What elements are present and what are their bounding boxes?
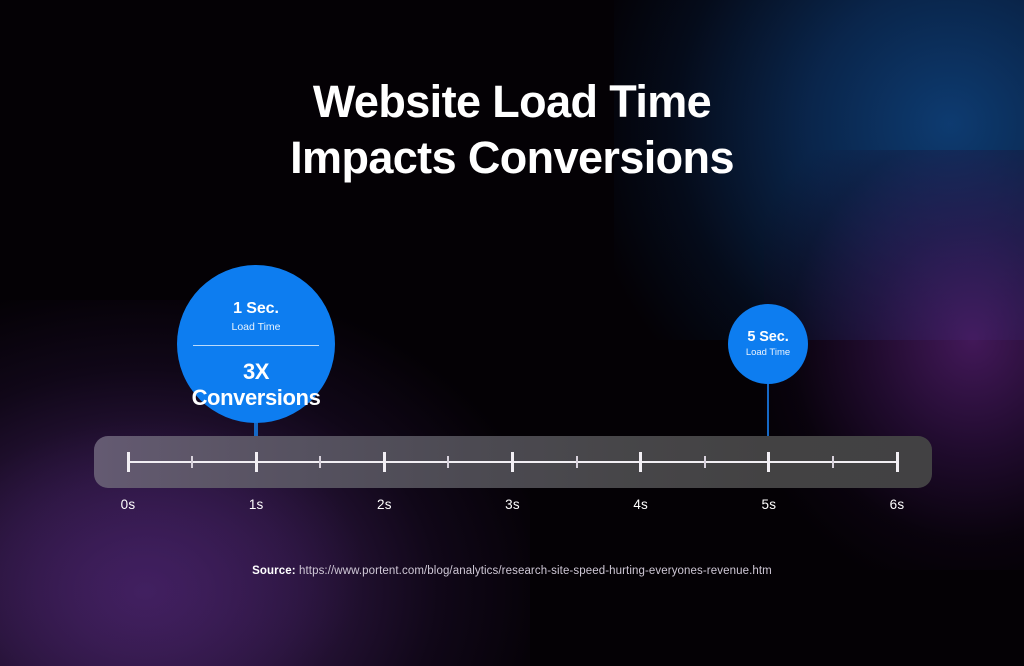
- axis-label-6s: 6s: [867, 497, 927, 512]
- marker-1s-stat-line1: 3X: [243, 359, 269, 384]
- page-title: Website Load Time Impacts Conversions: [0, 74, 1024, 186]
- axis-label-2s: 2s: [354, 497, 414, 512]
- axis-tick-major-3s: [511, 452, 514, 472]
- source-url[interactable]: https://www.portent.com/blog/analytics/r…: [299, 565, 772, 577]
- axis-tick-minor-1.5s: [319, 456, 321, 468]
- axis-tick-major-2s: [383, 452, 386, 472]
- title-line-1: Website Load Time: [0, 74, 1024, 130]
- axis-tick-minor-3.5s: [576, 456, 578, 468]
- marker-1s-subtitle: Load Time: [231, 321, 280, 334]
- marker-1s-stat-line2: Conversions: [192, 385, 321, 410]
- infographic-canvas: Website Load Time Impacts Conversions 0s…: [0, 0, 1024, 666]
- axis-tick-major-5s: [767, 452, 770, 472]
- marker-1s-divider: [193, 345, 319, 346]
- source-label: Source:: [252, 565, 296, 577]
- axis-tick-minor-0.5s: [191, 456, 193, 468]
- axis-label-0s: 0s: [98, 497, 158, 512]
- axis-label-1s: 1s: [226, 497, 286, 512]
- axis-tick-major-0s: [127, 452, 130, 472]
- title-line-2: Impacts Conversions: [0, 130, 1024, 186]
- axis-tick-minor-4.5s: [704, 456, 706, 468]
- axis-tick-major-6s: [896, 452, 899, 472]
- axis-tick-minor-5.5s: [832, 456, 834, 468]
- marker-5s-headline: 5 Sec.: [747, 329, 788, 345]
- marker-1s-headline: 1 Sec.: [233, 300, 279, 318]
- marker-1s-stat: 3X Conversions: [192, 359, 321, 410]
- axis-label-4s: 4s: [611, 497, 671, 512]
- source-line: Source: https://www.portent.com/blog/ana…: [0, 565, 1024, 577]
- axis-tick-major-1s: [255, 452, 258, 472]
- axis-label-5s: 5s: [739, 497, 799, 512]
- marker-bubble-5s[interactable]: 5 Sec. Load Time: [728, 304, 808, 384]
- marker-5s-subtitle: Load Time: [746, 347, 790, 358]
- axis-tick-minor-2.5s: [447, 456, 449, 468]
- axis-label-3s: 3s: [483, 497, 543, 512]
- axis-tick-major-4s: [639, 452, 642, 472]
- marker-bubble-1s[interactable]: 1 Sec. Load Time 3X Conversions: [177, 265, 335, 423]
